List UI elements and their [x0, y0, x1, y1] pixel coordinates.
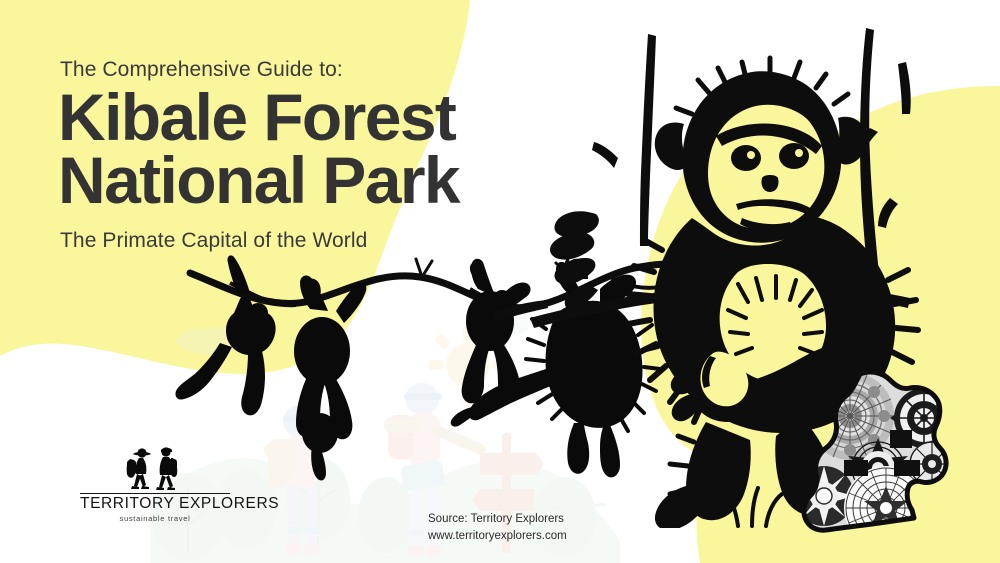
website-line: www.territoryexplorers.com [428, 528, 567, 545]
source-credit: Source: Territory Explorers www.territor… [428, 511, 567, 544]
poster-canvas: The Comprehensive Guide to: Kibale Fores… [0, 0, 1000, 563]
subtitle-text: The Primate Capital of the World [60, 229, 459, 253]
page-title: Kibale Forest National Park [58, 86, 459, 213]
brand-logo: TERRITORY EXPLORERS sustainable travel [80, 444, 230, 523]
source-line: Source: Territory Explorers [428, 511, 567, 528]
two-hikers-icon [80, 444, 230, 492]
logo-tagline: sustainable travel [80, 514, 230, 523]
title-line-2: National Park [58, 149, 459, 212]
logo-name: TERRITORY EXPLORERS [80, 493, 230, 513]
eyebrow-text: The Comprehensive Guide to: [60, 58, 459, 82]
headline-block: The Comprehensive Guide to: Kibale Fores… [58, 58, 459, 253]
